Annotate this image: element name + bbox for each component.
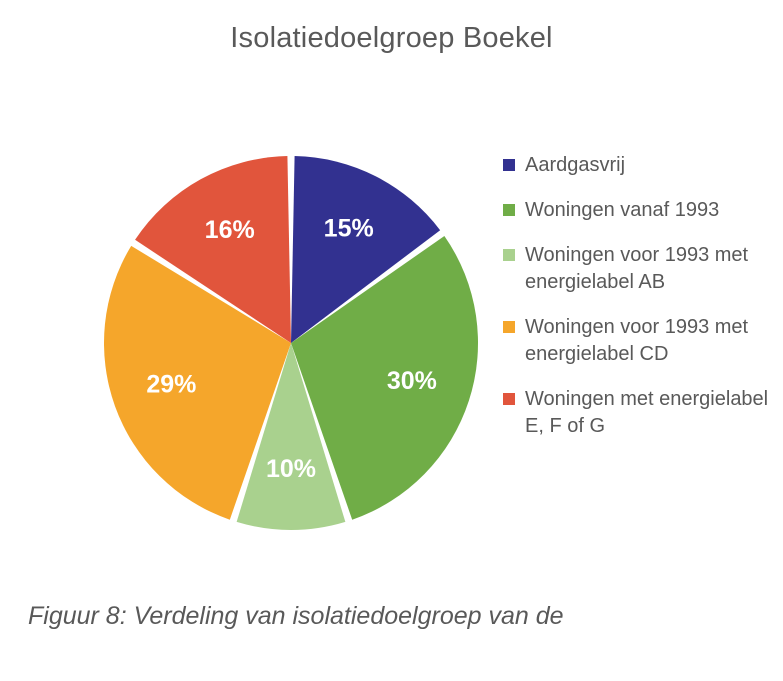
legend-item-label: Aardgasvrij — [525, 152, 625, 179]
legend-item-label: Woningen met energielabel E, F of G — [525, 386, 781, 440]
chart-title: Isolatiedoelgroep Boekel — [0, 22, 783, 55]
legend-item[interactable]: Woningen met energielabel E, F of G — [503, 386, 781, 440]
legend-item[interactable]: Woningen voor 1993 met energielabel CD — [503, 314, 781, 368]
figure-container: Isolatiedoelgroep Boekel 15%30%10%29%16%… — [0, 0, 783, 681]
legend-item[interactable]: Aardgasvrij — [503, 152, 781, 179]
legend-item[interactable]: Woningen vanaf 1993 — [503, 197, 781, 224]
figure-caption: Figuur 8: Verdeling van isolatiedoelgroe… — [28, 602, 783, 631]
chart-legend: AardgasvrijWoningen vanaf 1993Woningen v… — [503, 152, 781, 458]
pie-slice-label: 10% — [266, 455, 316, 483]
legend-color-swatch-icon — [503, 249, 515, 261]
legend-item-label: Woningen vanaf 1993 — [525, 197, 719, 224]
pie-slice-label: 30% — [387, 367, 437, 395]
legend-item-label: Woningen voor 1993 met energielabel CD — [525, 314, 781, 368]
legend-item[interactable]: Woningen voor 1993 met energielabel AB — [503, 242, 781, 296]
legend-color-swatch-icon — [503, 159, 515, 171]
pie-slice-label: 15% — [324, 214, 374, 242]
pie-slice-label: 16% — [205, 216, 255, 244]
pie-slice-label: 29% — [146, 371, 196, 399]
legend-color-swatch-icon — [503, 321, 515, 333]
pie-chart: 15%30%10%29%16% — [96, 148, 486, 538]
legend-color-swatch-icon — [503, 204, 515, 216]
legend-color-swatch-icon — [503, 393, 515, 405]
pie-chart-svg: 15%30%10%29%16% — [96, 148, 486, 538]
legend-item-label: Woningen voor 1993 met energielabel AB — [525, 242, 781, 296]
